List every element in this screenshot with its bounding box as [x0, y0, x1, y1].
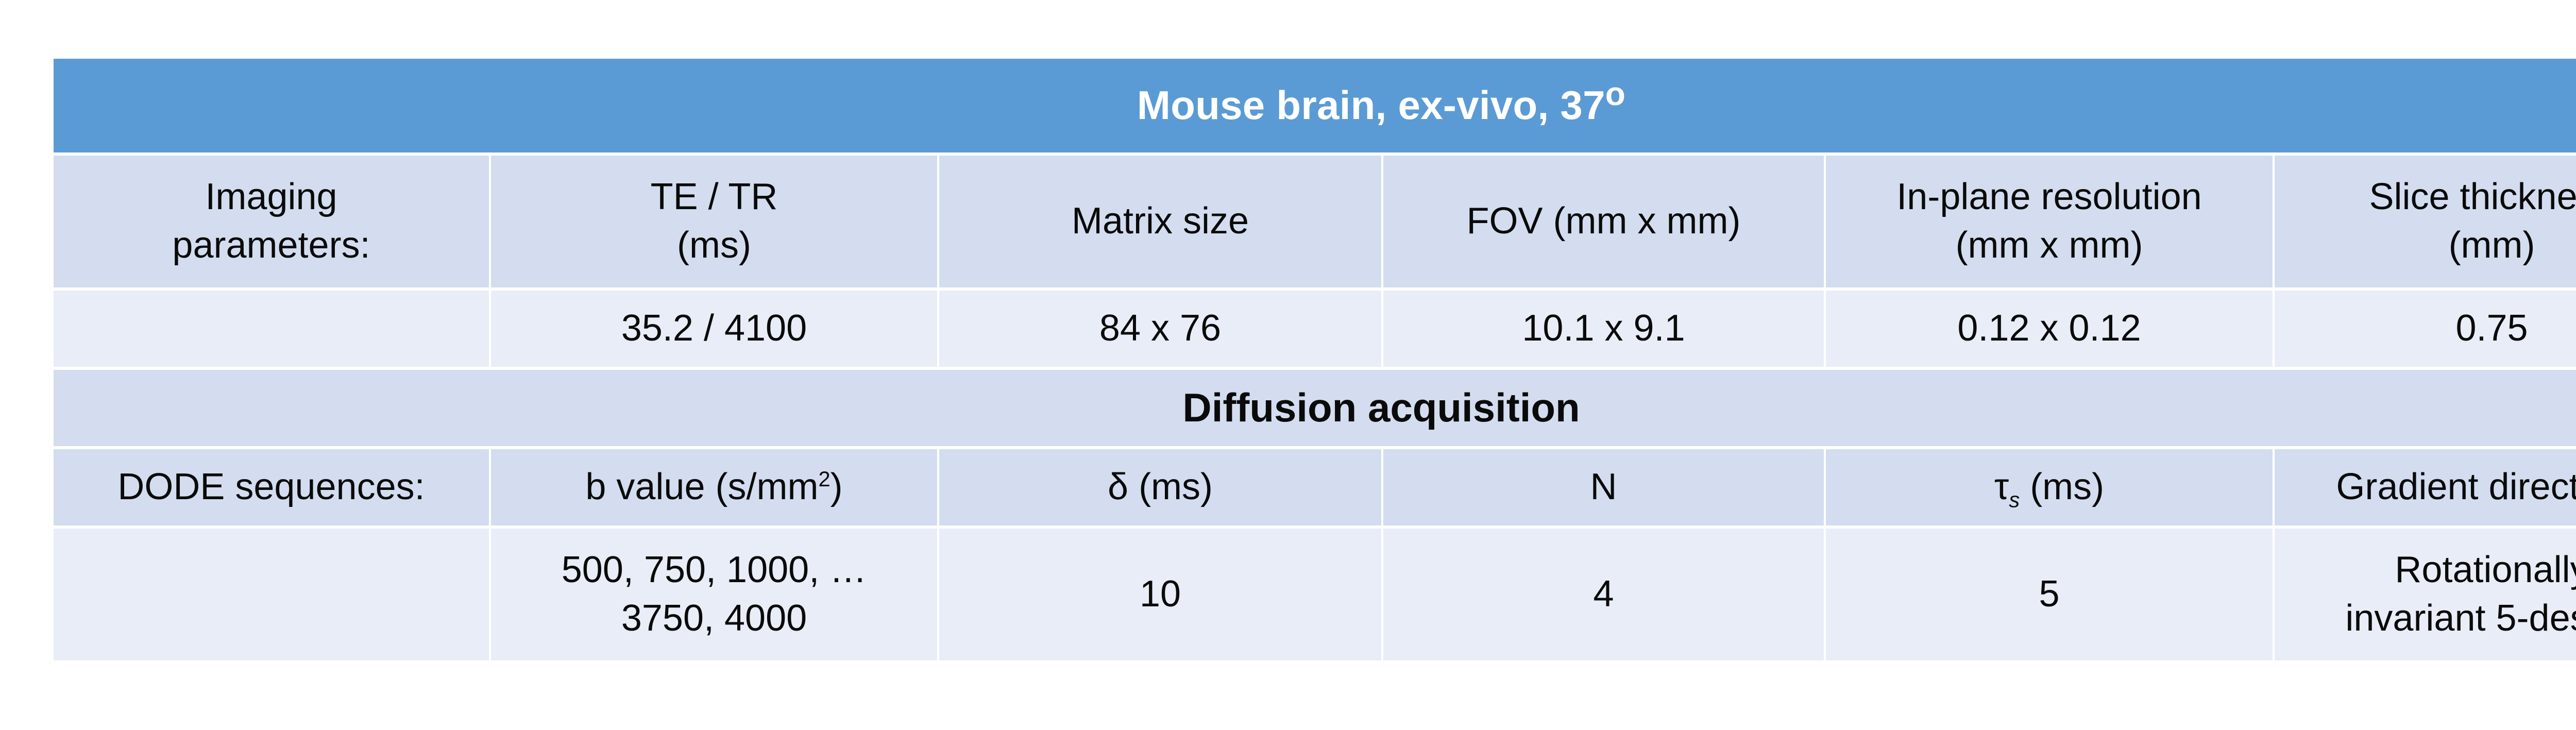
dode-values-stub-cell: [54, 529, 489, 660]
value-slice-thickness: 0.75: [2275, 291, 2576, 367]
column-header-b-value-superscript: 2: [818, 467, 830, 491]
imaging-row-label-line1: Imaging: [61, 173, 482, 222]
column-header-in-plane-resolution: In-plane resolution (mm x mm): [1826, 156, 2273, 287]
imaging-row-label-line2: parameters:: [61, 222, 482, 270]
imaging-values-row: 35.2 / 4100 84 x 76 10.1 x 9.1 0.12 x 0.…: [54, 291, 2576, 367]
column-header-gradient-directions: Gradient directions: [2275, 449, 2576, 525]
column-header-delta: δ (ms): [939, 449, 1381, 525]
column-header-tau-symbol: τ: [1994, 466, 2009, 507]
imaging-header-row: Imaging parameters: TE / TR (ms) Matrix …: [54, 156, 2576, 287]
column-header-tau-unit: (ms): [2020, 466, 2104, 507]
diffusion-section-title-cell: Diffusion acquisition: [54, 370, 2576, 446]
column-header-in-plane-resolution-line1: In-plane resolution: [1833, 173, 2265, 222]
dode-header-row: DODE sequences: b value (s/mm2) δ (ms) N…: [54, 449, 2576, 525]
value-in-plane-resolution: 0.12 x 0.12: [1826, 291, 2273, 367]
value-n: 4: [1383, 529, 1824, 660]
table-title-row: Mouse brain, ex-vivo, 37o: [54, 59, 2576, 152]
column-header-b-value-prefix: b value (s/mm: [585, 466, 818, 507]
table-title-text: Mouse brain, ex-vivo, 37: [1137, 82, 1605, 128]
parameter-table-container: Mouse brain, ex-vivo, 37o Imaging parame…: [52, 56, 2576, 664]
value-gradient-directions-line1: Rotationally: [2282, 546, 2576, 595]
column-header-te-tr-line1: TE / TR: [498, 173, 930, 222]
value-gradient-directions: Rotationally invariant 5-design: [2275, 529, 2576, 660]
diffusion-section-row: Diffusion acquisition: [54, 370, 2576, 446]
imaging-values-stub-cell: [54, 291, 489, 367]
column-header-b-value: b value (s/mm2): [491, 449, 937, 525]
column-header-fov: FOV (mm x mm): [1383, 156, 1824, 287]
value-tau-s: 5: [1826, 529, 2273, 660]
value-b-value: 500, 750, 1000, … 3750, 4000: [491, 529, 937, 660]
column-header-n-text: N: [1590, 466, 1617, 507]
table-title-cell: Mouse brain, ex-vivo, 37o: [54, 59, 2576, 152]
column-header-b-value-suffix: ): [831, 466, 843, 507]
column-header-n: N: [1383, 449, 1824, 525]
imaging-row-label-cell: Imaging parameters:: [54, 156, 489, 287]
degree-symbol: o: [1605, 75, 1625, 112]
column-header-matrix-size: Matrix size: [939, 156, 1381, 287]
column-header-te-tr: TE / TR (ms): [491, 156, 937, 287]
column-header-tau-s: τs (ms): [1826, 449, 2273, 525]
value-te-tr: 35.2 / 4100: [491, 291, 937, 367]
value-matrix-size: 84 x 76: [939, 291, 1381, 367]
column-header-tau-subscript: s: [2009, 488, 2020, 512]
value-b-value-line2: 3750, 4000: [498, 595, 930, 643]
slide-canvas: Mouse brain, ex-vivo, 37o Imaging parame…: [0, 0, 2576, 730]
column-header-delta-text: δ (ms): [1108, 466, 1213, 507]
column-header-slice-thickness: Slice thickness (mm): [2275, 156, 2576, 287]
column-header-slice-thickness-line2: (mm): [2282, 222, 2576, 270]
dode-row-label-cell: DODE sequences:: [54, 449, 489, 525]
dode-values-row: 500, 750, 1000, … 3750, 4000 10 4 5 Rota…: [54, 529, 2576, 660]
column-header-fov-text: FOV (mm x mm): [1467, 200, 1741, 242]
value-delta: 10: [939, 529, 1381, 660]
value-fov: 10.1 x 9.1: [1383, 291, 1824, 367]
column-header-in-plane-resolution-line2: (mm x mm): [1833, 222, 2265, 270]
column-header-gradient-directions-text: Gradient directions: [2336, 466, 2576, 507]
column-header-te-tr-line2: (ms): [498, 222, 930, 270]
column-header-matrix-size-text: Matrix size: [1072, 200, 1249, 242]
value-b-value-line1: 500, 750, 1000, …: [498, 546, 930, 595]
imaging-parameters-table: Mouse brain, ex-vivo, 37o Imaging parame…: [52, 56, 2576, 664]
value-gradient-directions-line2: invariant 5-design: [2282, 595, 2576, 643]
column-header-slice-thickness-line1: Slice thickness: [2282, 173, 2576, 222]
